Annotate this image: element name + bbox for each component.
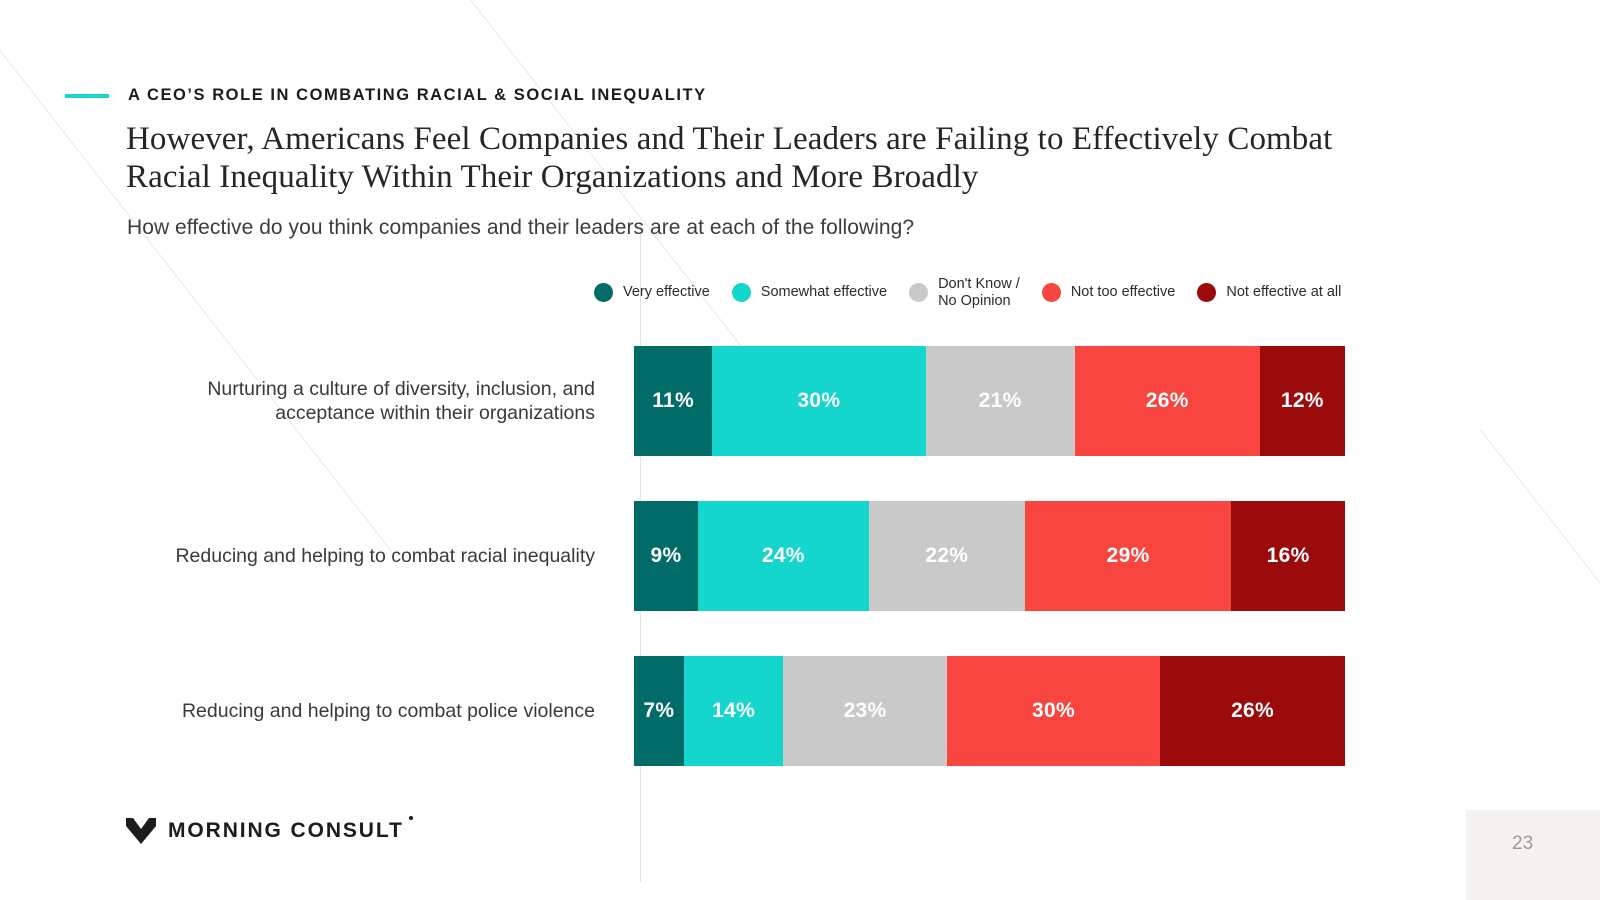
survey-question: How effective do you think companies and… [127,216,914,240]
bar-segment-value: 30% [797,389,840,413]
bar-segment-dont-know[interactable]: 21% [926,346,1075,456]
stacked-bar-chart: Nurturing a culture of diversity, inclus… [0,346,1600,811]
bar-segment-very-effective[interactable]: 9% [634,501,698,611]
chart-row: Nurturing a culture of diversity, inclus… [0,346,1600,456]
legend-swatch-icon [1042,283,1061,302]
legend-swatch-icon [909,283,928,302]
legend-item-label: Don't Know / No Opinion [938,276,1020,309]
bar-segment-very-effective[interactable]: 7% [634,656,684,766]
bar-segment-value: 26% [1231,699,1274,723]
chart-row-label: Nurturing a culture of diversity, inclus… [165,346,595,456]
legend-swatch-icon [594,283,613,302]
chevron-m-mark-icon [126,818,156,844]
section-eyebrow-label: A CEO’S ROLE IN COMBATING RACIAL & SOCIA… [128,86,707,105]
bar-segment-value: 11% [652,389,694,413]
bar-segment-value: 12% [1281,389,1324,413]
legend-item[interactable]: Not effective at all [1197,283,1341,302]
logo-wordmark: MORNING CONSULT [168,819,404,843]
bar-segment-value: 23% [844,699,887,723]
bar-segment-not-too-effective[interactable]: 30% [947,656,1160,766]
chart-legend: Very effective Somewhat effective Don't … [594,276,1363,309]
page-number-backdrop [1466,810,1600,900]
page-number: 23 [1512,833,1533,855]
bar-segment-dont-know[interactable]: 22% [869,501,1025,611]
bar-segment-value: 14% [712,699,755,723]
bar-segment-somewhat-effective[interactable]: 30% [712,346,925,456]
legend-item[interactable]: Don't Know / No Opinion [909,276,1020,309]
bar-segment-value: 30% [1032,699,1075,723]
bar-segment-very-effective[interactable]: 11% [634,346,712,456]
bar-segment-not-effective-at-all[interactable]: 16% [1231,501,1345,611]
bar-segment-not-too-effective[interactable]: 29% [1025,501,1231,611]
bar-segment-value: 29% [1107,544,1150,568]
bar-segment-value: 24% [762,544,805,568]
bar-segment-value: 26% [1146,389,1189,413]
stacked-bar: 7% 14% 23% 30% 26% [634,656,1345,766]
stacked-bar: 9% 24% 22% 29% 16% [634,501,1345,611]
legend-item[interactable]: Very effective [594,283,710,302]
legend-item-label: Somewhat effective [761,284,887,301]
morning-consult-logo: MORNING CONSULT [126,818,404,844]
chart-row: Reducing and helping to combat police vi… [0,656,1600,766]
legend-item[interactable]: Not too effective [1042,283,1176,302]
bar-segment-value: 7% [643,699,674,723]
section-eyebrow: A CEO’S ROLE IN COMBATING RACIAL & SOCIA… [65,86,707,105]
bar-segment-somewhat-effective[interactable]: 24% [698,501,869,611]
bar-segment-value: 16% [1267,544,1310,568]
bar-segment-value: 21% [979,389,1022,413]
legend-item-label: Not effective at all [1226,284,1341,301]
stacked-bar: 11% 30% 21% 26% 12% [634,346,1345,456]
accent-rule-icon [65,94,109,98]
legend-item-label: Not too effective [1071,284,1176,301]
bar-segment-not-effective-at-all[interactable]: 26% [1160,656,1345,766]
legend-swatch-icon [1197,283,1216,302]
bar-segment-somewhat-effective[interactable]: 14% [684,656,784,766]
slide-canvas: A CEO’S ROLE IN COMBATING RACIAL & SOCIA… [0,0,1600,900]
chart-row-label: Reducing and helping to combat racial in… [165,501,595,611]
chart-row-label: Reducing and helping to combat police vi… [165,656,595,766]
bar-segment-not-too-effective[interactable]: 26% [1075,346,1260,456]
bar-segment-not-effective-at-all[interactable]: 12% [1260,346,1345,456]
logo-trademark-dot-icon [409,816,413,820]
bar-segment-dont-know[interactable]: 23% [783,656,947,766]
legend-item-label: Very effective [623,284,710,301]
page-title: However, Americans Feel Companies and Th… [126,120,1416,197]
bar-segment-value: 9% [651,544,682,568]
bar-segment-value: 22% [925,544,968,568]
chart-row: Reducing and helping to combat racial in… [0,501,1600,611]
legend-item[interactable]: Somewhat effective [732,283,887,302]
legend-swatch-icon [732,283,751,302]
